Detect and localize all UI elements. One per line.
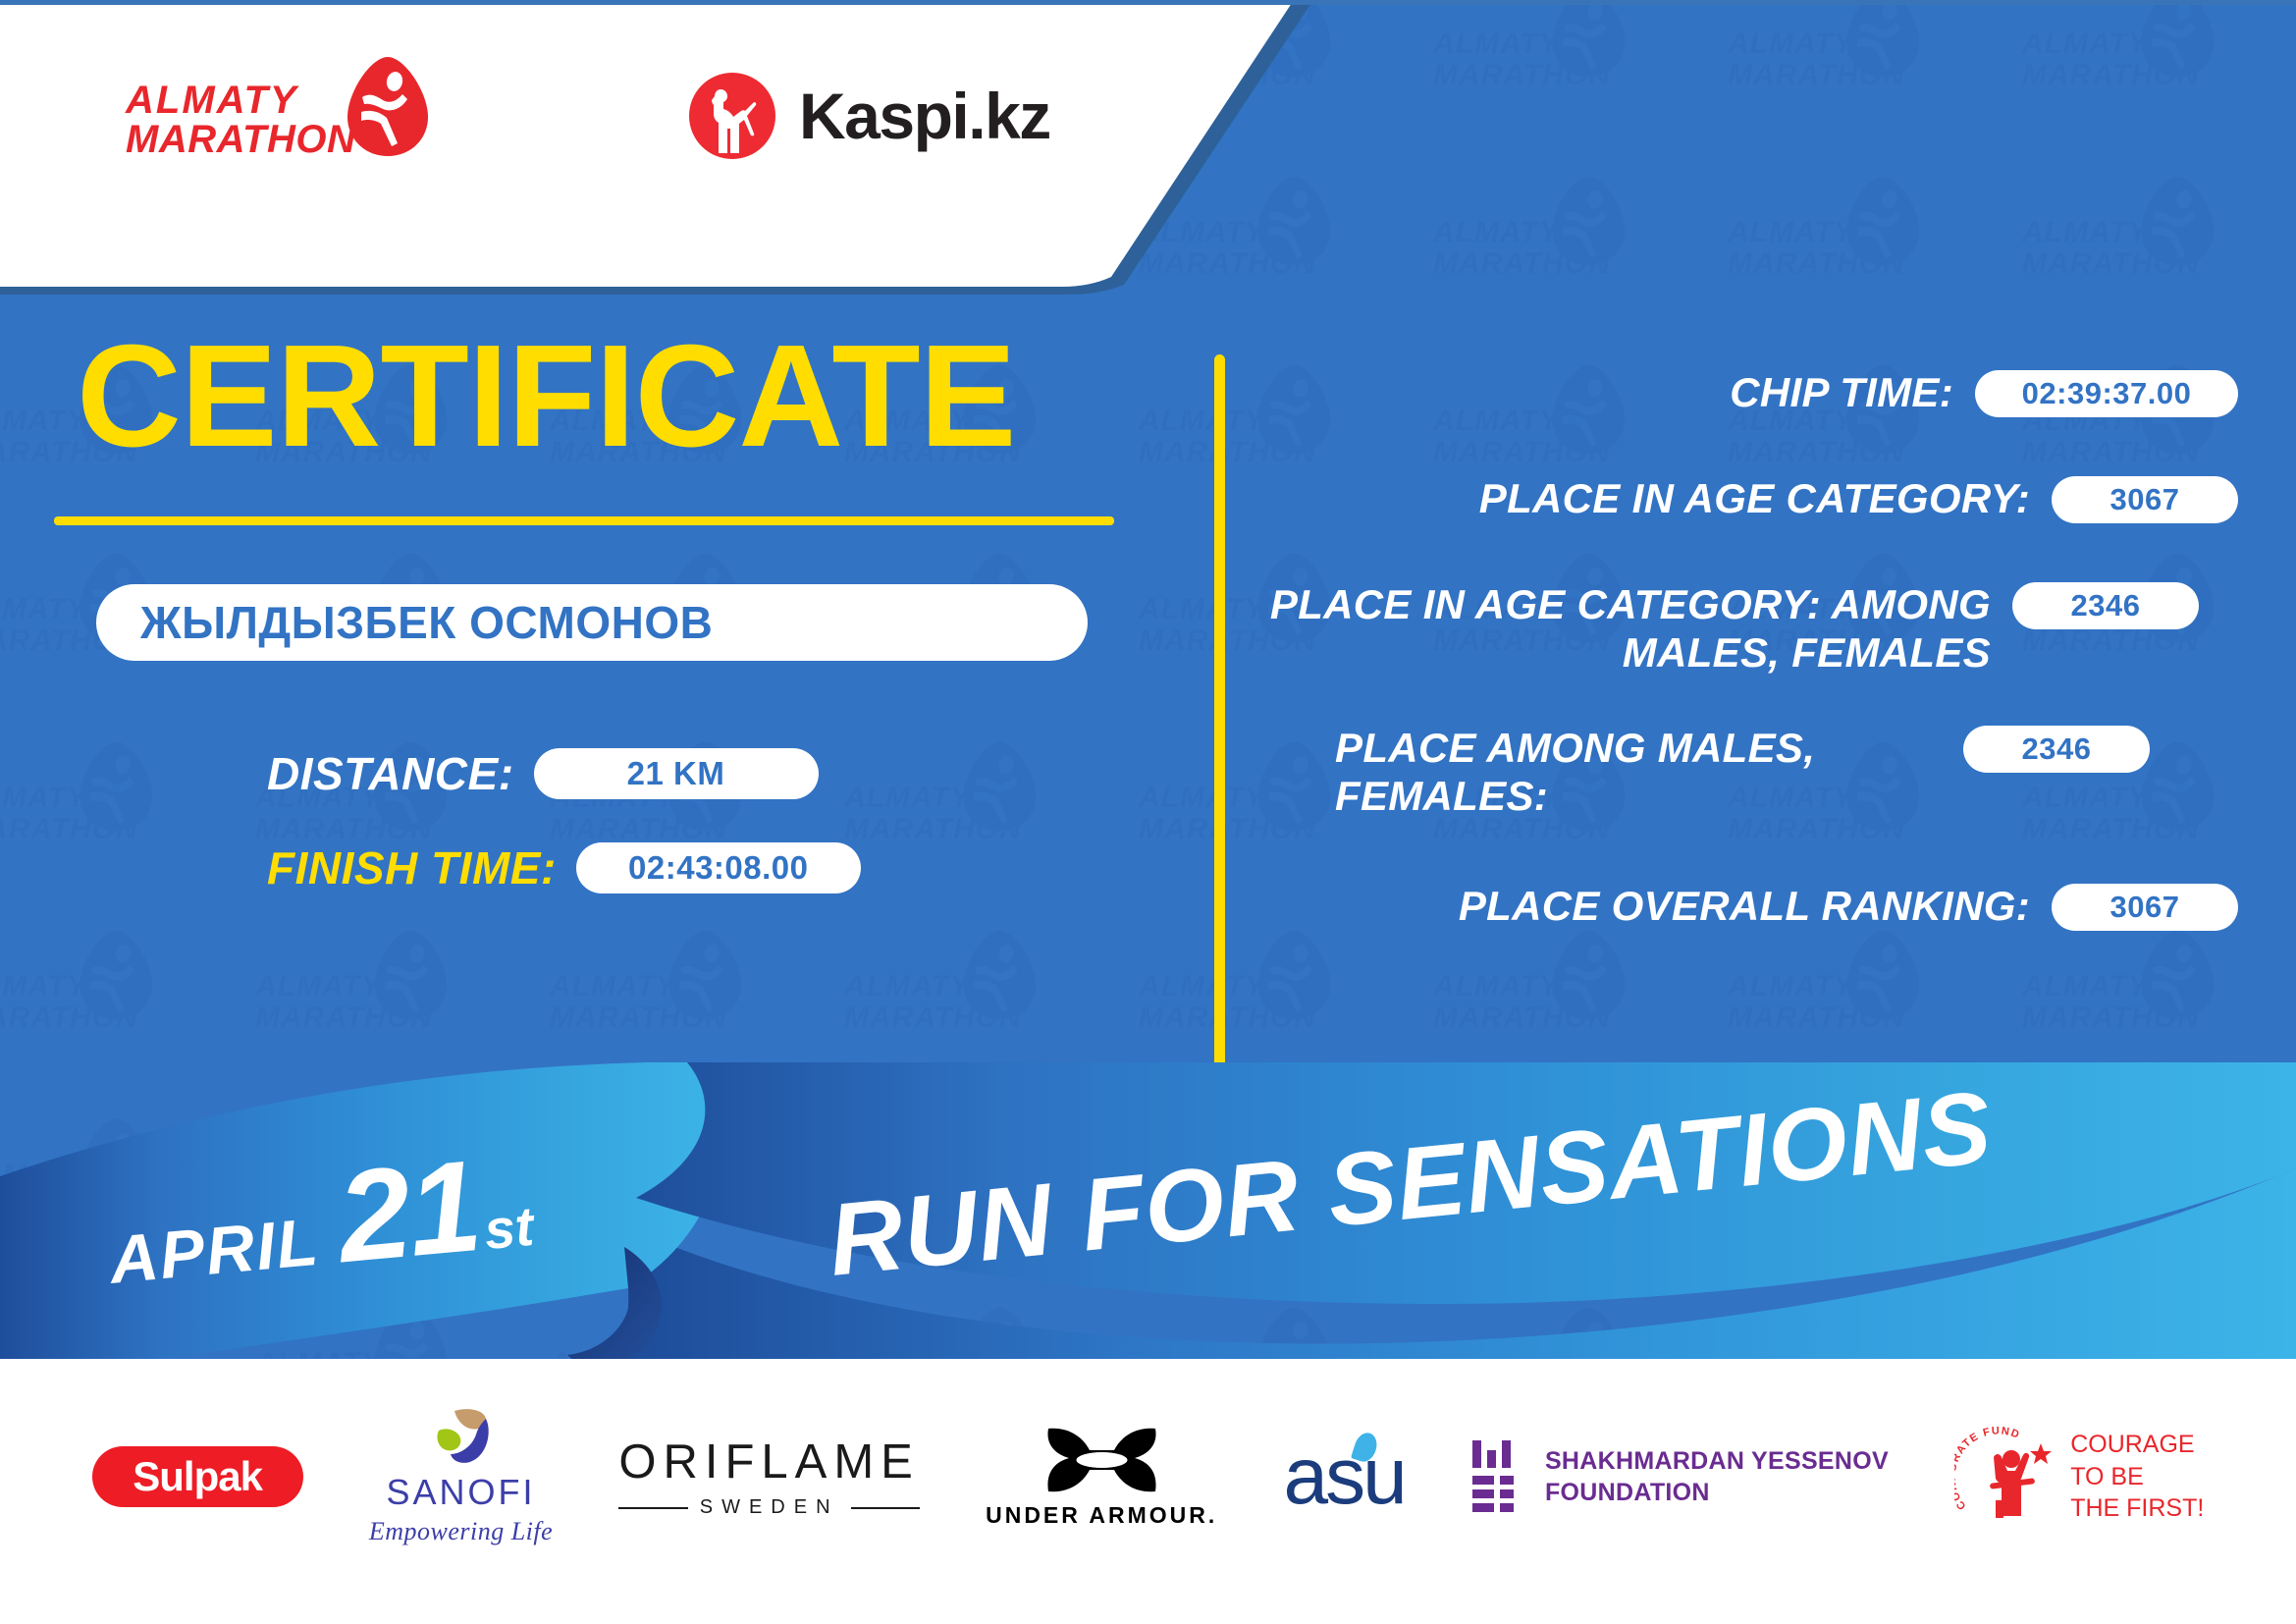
sponsor-oriflame: ORIFLAME SWEDEN — [618, 1435, 919, 1519]
svg-text:ALMATY: ALMATY — [255, 970, 384, 1002]
sponsor-under-armour: UNDER ARMOUR. — [986, 1425, 1217, 1529]
sanofi-label: SANOFI — [386, 1472, 535, 1513]
stat-row: PLACE OVERALL RANKING: 3067 — [1256, 882, 2238, 939]
stat-label: PLACE AMONG MALES, FEMALES: — [1256, 724, 1963, 820]
almaty-marathon-logo: ALMATY MARATHON — [126, 64, 440, 177]
runner-teardrop-icon — [346, 55, 430, 158]
almaty-marathon-wordmark: ALMATY MARATHON — [126, 81, 355, 158]
sulpak-logo: Sulpak — [92, 1446, 303, 1507]
stat-value-pill: 3067 — [2052, 884, 2238, 931]
svg-text:ALMATY: ALMATY — [1433, 27, 1562, 60]
finish-time-label: FINISH TIME: — [267, 841, 557, 894]
sanofi-tagline: Empowering Life — [369, 1517, 553, 1546]
participant-name-pill: ЖЫЛДЫЗБЕК ОСМОНОВ — [96, 584, 1088, 661]
sponsor-corporate-fund: CORPORATE FUND COURAGE TO BE THE FIRST! — [1954, 1424, 2204, 1530]
watermark-tile: ALMATYMARATHON — [255, 923, 461, 1070]
sponsor-sulpak: Sulpak — [92, 1446, 303, 1507]
kaspi-logo: Kaspi.kz — [687, 71, 1050, 161]
svg-text:ALMATY: ALMATY — [1433, 970, 1562, 1002]
title-underline-rule — [54, 516, 1114, 525]
finish-time-row: FINISH TIME: 02:43:08.00 — [267, 841, 1178, 894]
stat-value: 3067 — [2110, 482, 2180, 517]
top-border-rule — [0, 0, 2296, 5]
watermark-tile: ALMATYMARATHON — [844, 923, 1050, 1070]
stat-label: CHIP TIME: — [1256, 368, 1975, 416]
event-day-suffix: st — [482, 1194, 536, 1262]
oriflame-subline: SWEDEN — [618, 1496, 919, 1519]
corporate-fund-label: COURAGE TO BE THE FIRST! — [2070, 1429, 2204, 1525]
corporate-fund-line3: THE FIRST! — [2070, 1492, 2204, 1525]
watermark-tile: ALMATYMARATHON — [1728, 169, 1934, 316]
watermark-tile: ALMATYMARATHON — [0, 923, 167, 1070]
stat-row: PLACE IN AGE CATEGORY: AMONG MALES, FEMA… — [1256, 580, 2238, 677]
stat-row: PLACE IN AGE CATEGORY: 3067 — [1256, 474, 2238, 531]
watermark-tile: ALMATYMARATHON — [1728, 923, 1934, 1070]
stat-row: PLACE AMONG MALES, FEMALES: 2346 — [1256, 724, 2238, 820]
svg-text:ALMATY: ALMATY — [2022, 27, 2151, 60]
finish-time-value: 02:43:08.00 — [628, 849, 808, 887]
event-day: 21 — [332, 1131, 485, 1291]
sulpak-label: Sulpak — [133, 1453, 262, 1500]
certificate-title: CERTIFICATE — [77, 324, 1178, 469]
svg-text:ALMATY: ALMATY — [2022, 216, 2151, 248]
watermark-tile: ALMATYMARATHON — [550, 923, 756, 1070]
under-armour-label: UNDER ARMOUR. — [986, 1502, 1217, 1529]
kaspi-wordmark: Kaspi.kz — [799, 79, 1050, 153]
finish-time-value-pill: 02:43:08.00 — [576, 842, 861, 893]
distance-value: 21 KM — [627, 755, 725, 792]
watermark-tile: ALMATYMARATHON — [1433, 923, 1639, 1070]
distance-label: DISTANCE: — [267, 747, 514, 800]
sponsor-sanofi: SANOFI Empowering Life — [369, 1407, 553, 1546]
watermark-tile: ALMATYMARATHON — [1139, 923, 1345, 1070]
stat-label: PLACE OVERALL RANKING: — [1256, 882, 2052, 930]
svg-text:ALMATY: ALMATY — [1728, 216, 1856, 248]
watermark-tile: ALMATYMARATHON — [2022, 169, 2228, 316]
sponsor-asu: asu — [1284, 1431, 1405, 1523]
stat-value-pill: 2346 — [1963, 726, 2150, 773]
distance-value-pill: 21 KM — [534, 748, 819, 799]
svg-text:ALMATY: ALMATY — [1139, 970, 1267, 1002]
almaty-line: ALMATY — [126, 81, 355, 120]
yessenov-line2: FOUNDATION — [1545, 1477, 1889, 1508]
svg-text:ALMATY: ALMATY — [1728, 970, 1856, 1002]
under-armour-icon — [1041, 1425, 1163, 1495]
watermark-tile: ALMATYMARATHON — [1728, 0, 1934, 128]
yellow-vertical-divider — [1214, 354, 1225, 1098]
stats-column: CHIP TIME: 02:39:37.00 PLACE IN AGE CATE… — [1256, 368, 2238, 939]
sanofi-icon — [427, 1407, 496, 1468]
asu-label: asu — [1284, 1431, 1405, 1523]
svg-text:ALMATY: ALMATY — [1433, 216, 1562, 248]
svg-text:ALMATY: ALMATY — [0, 970, 89, 1002]
watermark-tile: ALMATYMARATHON — [2022, 923, 2228, 1070]
oriflame-label: ORIFLAME — [618, 1435, 919, 1489]
event-month: APRIL — [107, 1204, 323, 1299]
oriflame-rule-left — [618, 1507, 687, 1509]
stat-value: 02:39:37.00 — [2022, 376, 2192, 411]
marathon-line: MARATHON — [126, 121, 355, 159]
svg-text:ALMATY: ALMATY — [550, 970, 678, 1002]
stat-label: PLACE IN AGE CATEGORY: — [1256, 474, 2052, 522]
stat-value-pill: 2346 — [2012, 582, 2199, 629]
stat-row: CHIP TIME: 02:39:37.00 — [1256, 368, 2238, 425]
sponsor-footer: Sulpak SANOFI Empowering Life ORIFLAME S… — [0, 1359, 2296, 1624]
sponsor-yessenov: SHAKHMARDAN YESSENOV FOUNDATION — [1470, 1436, 1889, 1517]
stat-value: 3067 — [2110, 890, 2180, 925]
corporate-fund-icon: CORPORATE FUND — [1954, 1424, 2060, 1530]
kaspi-people-circle-icon — [687, 71, 777, 161]
watermark-tile: ALMATYMARATHON — [1433, 169, 1639, 316]
distance-row: DISTANCE: 21 KM — [267, 747, 1178, 800]
stat-value: 2346 — [2071, 588, 2141, 623]
stat-value: 2346 — [2022, 731, 2092, 767]
participant-name: ЖЫЛДЫЗБЕК ОСМОНОВ — [140, 596, 713, 649]
stat-value-pill: 02:39:37.00 — [1975, 370, 2238, 417]
svg-text:ALMATY: ALMATY — [844, 970, 973, 1002]
corporate-fund-line2: TO BE — [2070, 1461, 2204, 1493]
svg-text:ALMATY: ALMATY — [2022, 970, 2151, 1002]
yessenov-bars-icon — [1470, 1436, 1523, 1517]
yessenov-label: SHAKHMARDAN YESSENOV FOUNDATION — [1545, 1445, 1889, 1508]
left-column: CERTIFICATE ЖЫЛДЫЗБЕК ОСМОНОВ DISTANCE: … — [0, 324, 1178, 894]
yessenov-line1: SHAKHMARDAN YESSENOV — [1545, 1445, 1889, 1477]
corporate-fund-line1: COURAGE — [2070, 1429, 2204, 1461]
certificate-root: ALMATYMARATHONALMATYMARATHONALMATYMARATH… — [0, 0, 2296, 1624]
stat-label: PLACE IN AGE CATEGORY: AMONG MALES, FEMA… — [1256, 580, 2012, 677]
oriflame-rule-right — [851, 1507, 920, 1509]
watermark-tile: ALMATYMARATHON — [1433, 0, 1639, 128]
stat-value-pill: 3067 — [2052, 476, 2238, 523]
watermark-tile: ALMATYMARATHON — [2022, 0, 2228, 128]
oriflame-sweden: SWEDEN — [700, 1496, 839, 1519]
svg-text:ALMATY: ALMATY — [1728, 27, 1856, 60]
